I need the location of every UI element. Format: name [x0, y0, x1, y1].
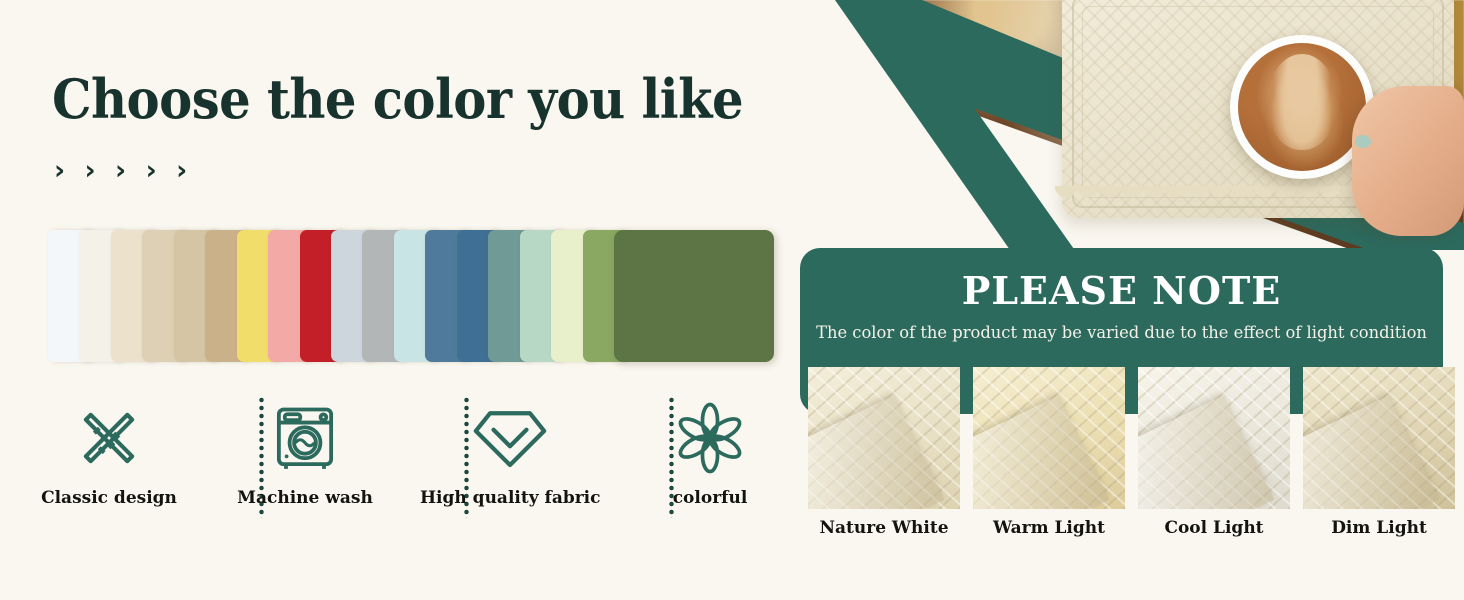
chevron-row-icon: › › › › ›: [54, 157, 192, 184]
page-title: Choose the color you like: [52, 68, 696, 130]
feature-label: colorful: [620, 488, 800, 508]
sample-photo: [808, 367, 960, 509]
latte-art-icon: [1267, 54, 1337, 150]
light-sample-nature-white[interactable]: Nature White: [808, 367, 960, 538]
feature-label: Machine wash: [215, 488, 395, 508]
feature-label: Classic design: [19, 488, 199, 508]
light-sample-dim-light[interactable]: Dim Light: [1303, 367, 1455, 538]
hand: [1352, 86, 1464, 236]
color-swatch-final[interactable]: [614, 230, 774, 362]
light-condition-samples: Nature White Warm Light Cool Light Dim L…: [808, 367, 1456, 557]
note-title: PLEASE NOTE: [800, 268, 1443, 313]
note-subtitle: The color of the product may be varied d…: [813, 323, 1430, 343]
placemat-color-fan: [48, 230, 774, 362]
feature-list: Classic design Machine wash: [48, 392, 774, 532]
fingernail: [1355, 135, 1371, 148]
sample-label: Cool Light: [1138, 518, 1290, 538]
sample-label: Dim Light: [1303, 518, 1455, 538]
light-sample-cool-light[interactable]: Cool Light: [1138, 367, 1290, 538]
diamond-icon: [420, 392, 600, 484]
feature-item-colorful[interactable]: colorful: [620, 392, 800, 508]
sample-photo: [973, 367, 1125, 509]
light-sample-warm-light[interactable]: Warm Light: [973, 367, 1125, 538]
sample-photo: [1303, 367, 1455, 509]
sample-label: Warm Light: [973, 518, 1125, 538]
sample-photo: [1138, 367, 1290, 509]
feature-item-high-quality-fabric[interactable]: High quality fabric: [420, 392, 600, 508]
promo-banner: Choose the color you like › › › › › Clas…: [0, 0, 1464, 600]
sample-label: Nature White: [808, 518, 960, 538]
feature-label: High quality fabric: [420, 488, 600, 508]
feature-item-classic-design[interactable]: Classic design: [19, 392, 199, 508]
washing-machine-icon: [215, 392, 395, 484]
flower-icon: [620, 392, 800, 484]
feature-item-machine-wash[interactable]: Machine wash: [215, 392, 395, 508]
crossed-rulers-icon: [19, 392, 199, 484]
coffee-surface: [1238, 43, 1366, 171]
